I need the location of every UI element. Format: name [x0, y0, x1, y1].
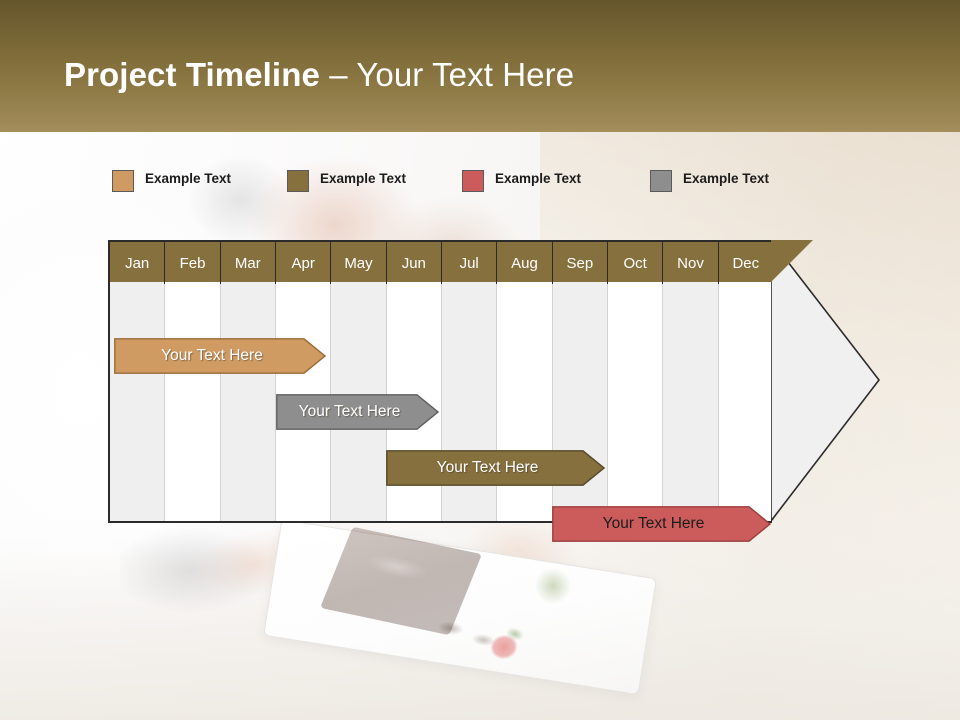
month-header-jun[interactable]: Jun: [387, 242, 442, 284]
slide-canvas: Project Timeline – Your Text Here Exampl…: [0, 0, 960, 720]
legend-swatch-icon-2: [287, 170, 309, 192]
title-band: Project Timeline – Your Text Here: [0, 0, 960, 132]
legend-swatch-icon-1: [112, 170, 134, 192]
task-bar-1[interactable]: Your Text Here: [114, 338, 326, 374]
legend: Example TextExample TextExample TextExam…: [0, 168, 960, 196]
month-header-oct[interactable]: Oct: [608, 242, 663, 284]
legend-label-2: Example Text: [320, 171, 406, 186]
task-bar-2[interactable]: Your Text Here: [276, 394, 439, 430]
task-bar-shape: [387, 451, 604, 485]
month-header-feb[interactable]: Feb: [165, 242, 220, 284]
month-header-may[interactable]: May: [331, 242, 386, 284]
task-bar-shape: [553, 507, 770, 541]
legend-label-4: Example Text: [683, 171, 769, 186]
month-column-dec: [719, 282, 774, 521]
timeline-arrowhead: [771, 240, 881, 523]
legend-label-1: Example Text: [145, 171, 231, 186]
month-header-apr[interactable]: Apr: [276, 242, 331, 284]
legend-swatch-icon-4: [650, 170, 672, 192]
month-column-oct: [608, 282, 663, 521]
month-header-sep[interactable]: Sep: [553, 242, 608, 284]
legend-swatch-icon-3: [462, 170, 484, 192]
legend-label-3: Example Text: [495, 171, 581, 186]
arrowhead-shape: [771, 240, 879, 521]
month-column-feb: [165, 282, 220, 521]
month-column-mar: [221, 282, 276, 521]
page-title-strong: Project Timeline: [64, 56, 320, 93]
page-title-light: – Your Text Here: [320, 56, 574, 93]
month-column-jan: [110, 282, 165, 521]
month-header-nov[interactable]: Nov: [663, 242, 718, 284]
month-header-mar[interactable]: Mar: [221, 242, 276, 284]
gantt-grid: Your Text HereYour Text HereYour Text He…: [108, 282, 772, 523]
task-bar-shape: [277, 395, 438, 429]
task-bar-shape: [115, 339, 325, 373]
month-header-dec[interactable]: Dec: [719, 242, 774, 284]
gantt-chart: Your Text HereYour Text HereYour Text He…: [108, 240, 772, 523]
month-header-row: JanFebMarAprMayJunJulAugSepOctNovDec: [108, 240, 772, 282]
month-column-nov: [663, 282, 718, 521]
month-header-jul[interactable]: Jul: [442, 242, 497, 284]
month-header-jan[interactable]: Jan: [110, 242, 165, 284]
page-title: Project Timeline – Your Text Here: [64, 56, 574, 94]
task-bar-4[interactable]: Your Text Here: [552, 506, 771, 542]
task-bar-3[interactable]: Your Text Here: [386, 450, 605, 486]
month-header-aug[interactable]: Aug: [497, 242, 552, 284]
